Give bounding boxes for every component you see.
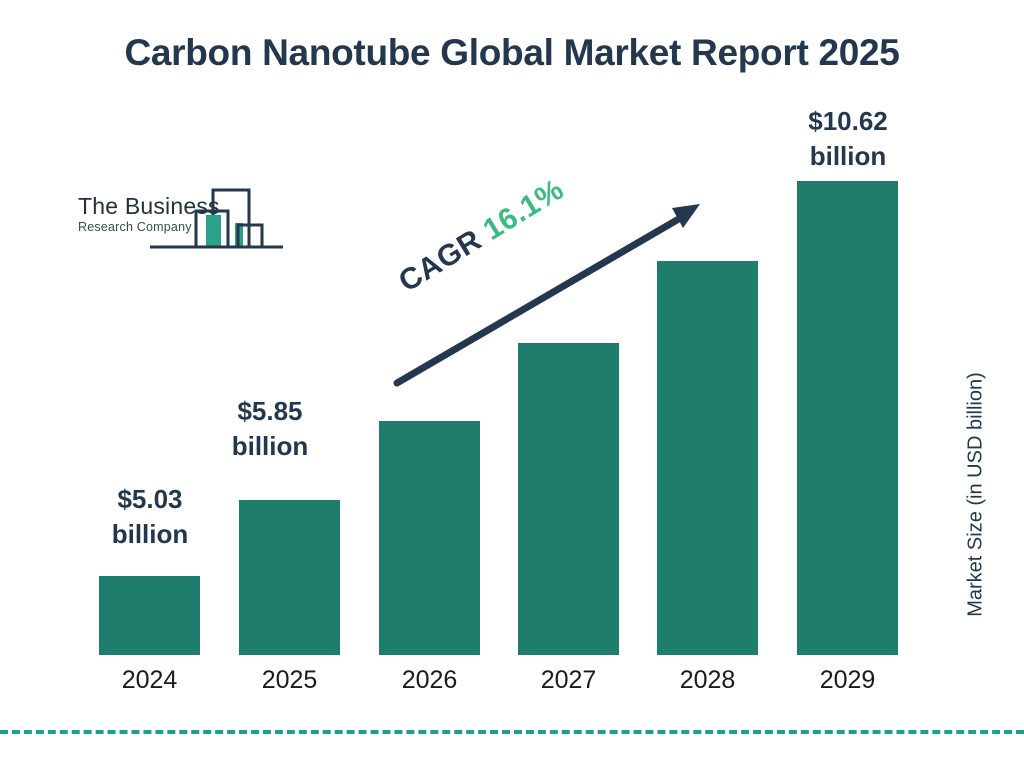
- chart-page: Carbon Nanotube Global Market Report 202…: [0, 0, 1024, 768]
- y-axis-label: Market Size (in USD billion): [965, 325, 988, 665]
- bar-chart-plot: 2024 2025 2026 2027 2028 2029 $5.03 bill…: [0, 0, 1024, 768]
- cagr-arrow-icon: [0, 0, 1024, 768]
- footer-divider: [0, 730, 1024, 734]
